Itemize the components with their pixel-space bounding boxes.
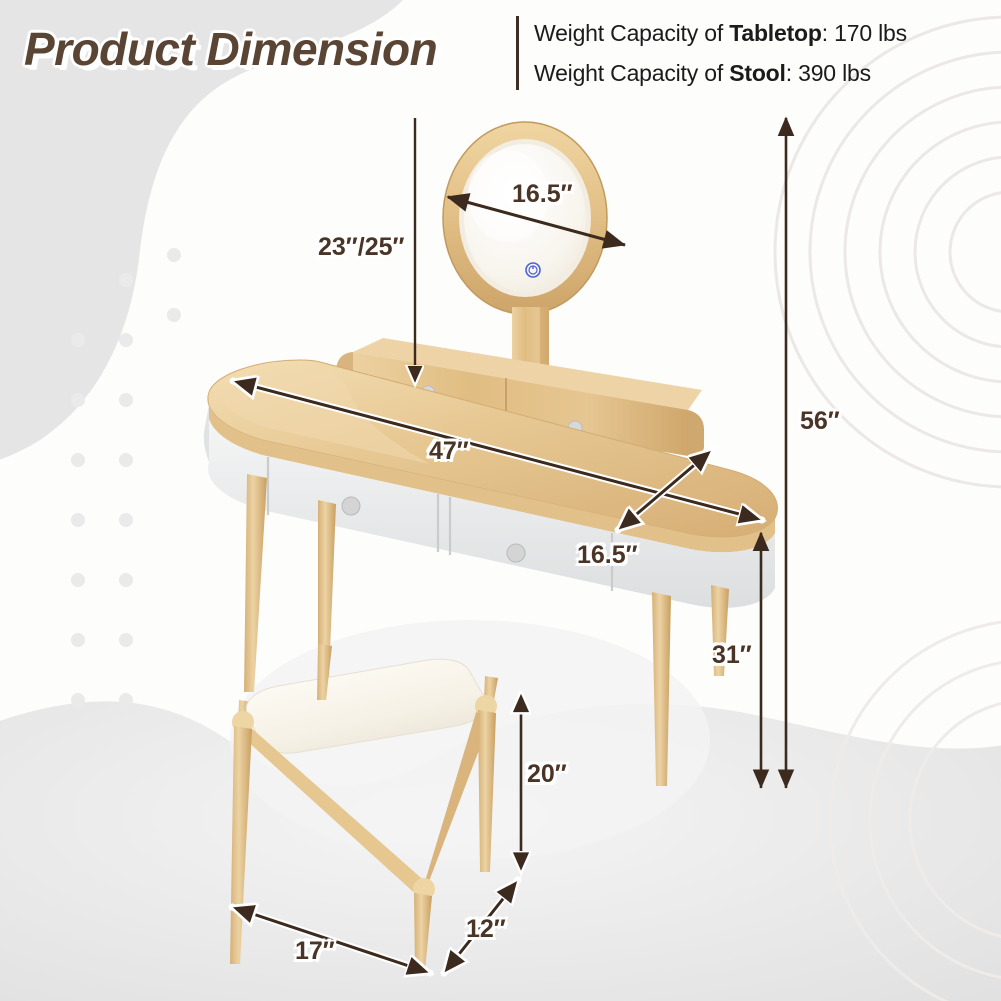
dimension-label-total-height: 56″ (800, 407, 840, 436)
dimension-label-stool-width: 17″ (295, 937, 335, 966)
dimension-label-table-depth: 16.5″ (577, 541, 638, 570)
spec-tabletop-prefix: Weight Capacity of (534, 20, 729, 46)
dimension-arrows (0, 0, 1001, 1001)
product-dimension-infographic: 23″/25″ 16.5″ 47″ 16.5″ 56″ 31″ 20″ 12″ … (0, 0, 1001, 1001)
arrow-table-depth (618, 450, 712, 530)
page-title: Product Dimension (24, 22, 437, 76)
spec-stool-prefix: Weight Capacity of (534, 60, 729, 86)
dimension-label-mirror-stand-height: 23″/25″ (318, 233, 405, 262)
header: Product Dimension Weight Capacity of Tab… (0, 0, 1001, 104)
spec-tabletop-emphasis: Tabletop (729, 20, 822, 46)
dimension-label-stool-height: 20″ (527, 760, 567, 789)
dimension-label-table-leg-height: 31″ (712, 641, 752, 670)
spec-stool-suffix: : 390 lbs (786, 60, 871, 86)
header-divider (516, 16, 519, 90)
dimension-label-stool-depth: 12″ (466, 915, 506, 944)
spec-tabletop-suffix: : 170 lbs (822, 20, 907, 46)
spec-stool-capacity: Weight Capacity of Stool: 390 lbs (534, 60, 871, 87)
arrow-table-width (233, 381, 762, 520)
spec-stool-emphasis: Stool (729, 60, 786, 86)
spec-tabletop-capacity: Weight Capacity of Tabletop: 170 lbs (534, 20, 907, 47)
dimension-label-mirror-diameter: 16.5″ (512, 180, 573, 209)
dimension-label-table-width: 47″ (429, 437, 469, 466)
